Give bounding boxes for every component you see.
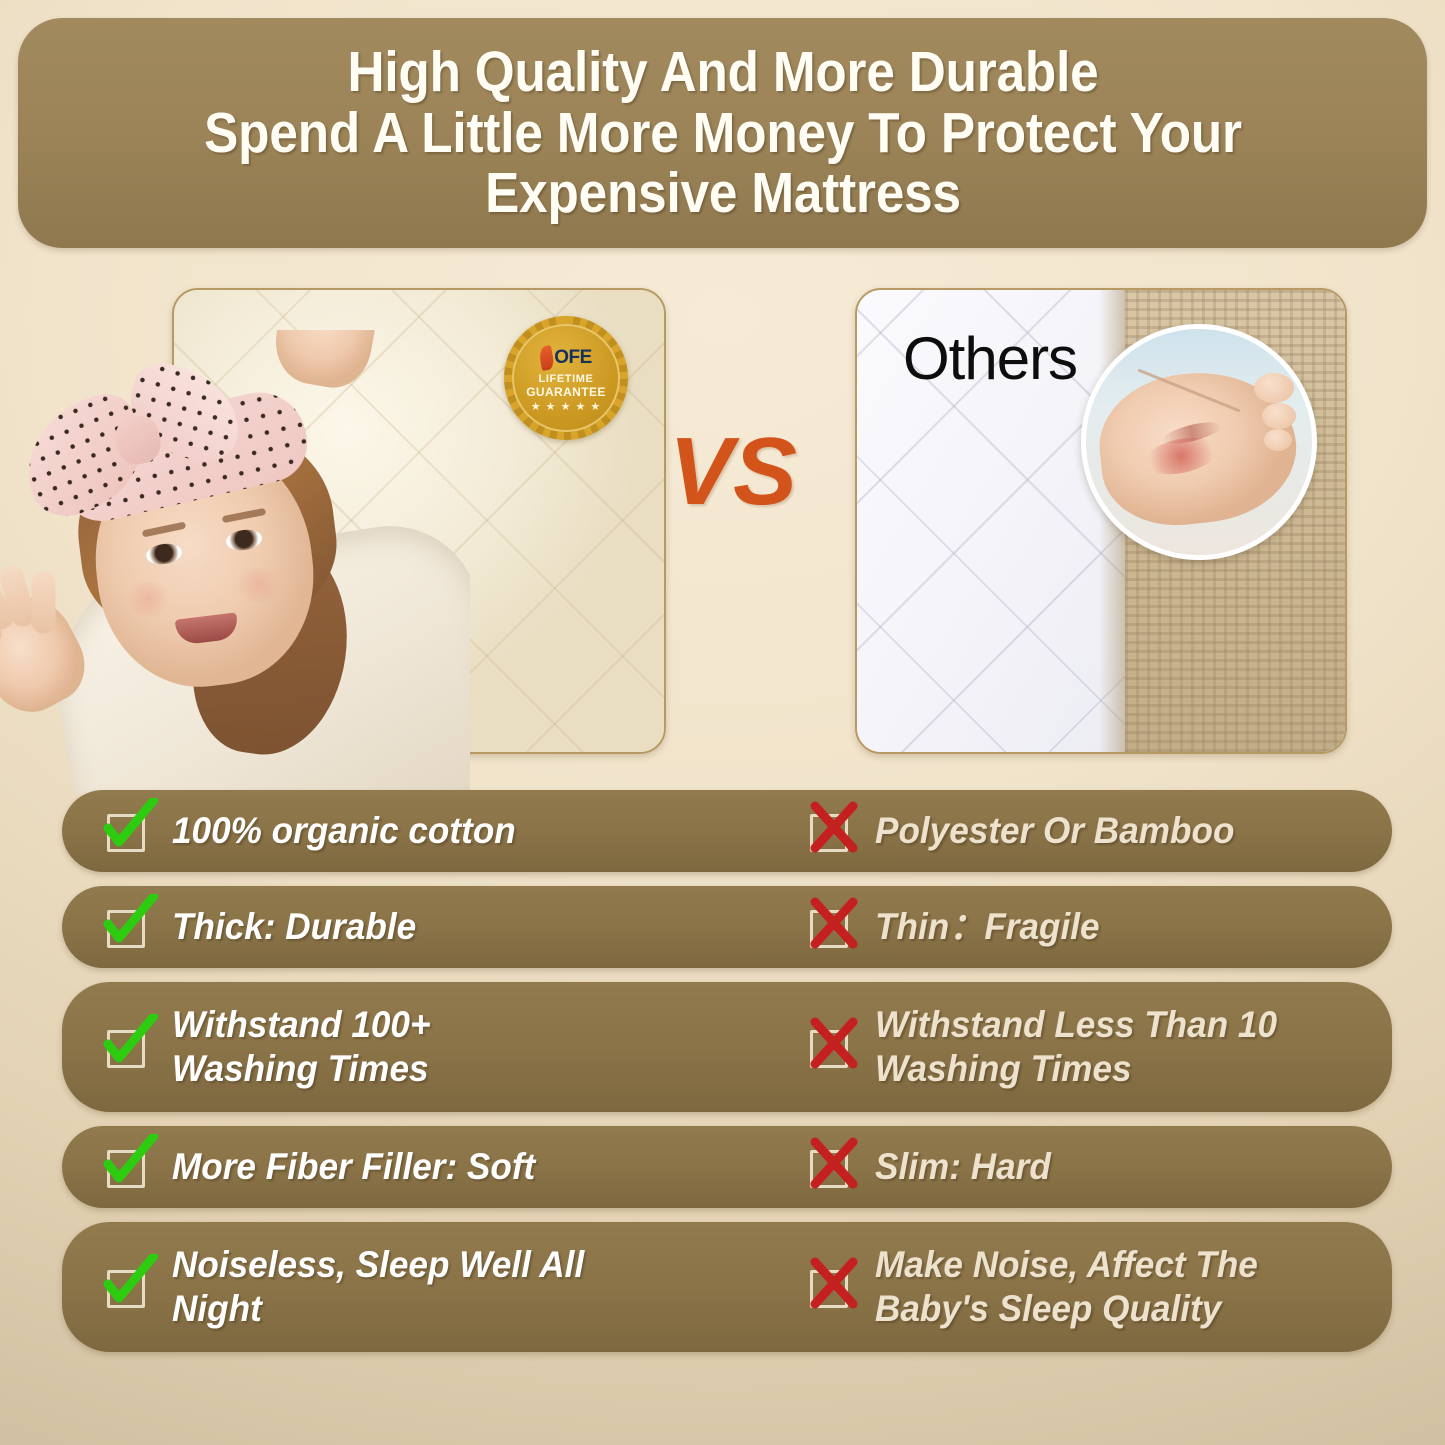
leaf-icon [538,345,555,371]
feature-label-others: Slim: Hard [875,1145,1051,1189]
feature-label-ours: 100% organic cotton [172,809,516,853]
headband-bow-left [7,385,161,528]
cross-icon [807,1144,853,1190]
header-line-2: Spend A Little More Money To Protect You… [124,103,1321,164]
header-banner: High Quality And More Durable Spend A Li… [18,18,1427,248]
header-title: High Quality And More Durable Spend A Li… [124,42,1321,225]
header-line-3: Expensive Mattress [124,163,1321,224]
feature-cell-others: Make Noise, Affect The Baby's Sleep Qual… [807,1243,1392,1330]
feature-cell-others: Slim: Hard [807,1144,1392,1190]
cross-icon [807,904,853,950]
check-icon [104,1024,150,1070]
lifetime-guarantee-badge: OFE LIFETIME GUARANTEE ★ ★ ★ ★ ★ [504,316,628,440]
comparison-rows: 100% organic cotton Polyester Or Bamboo … [62,790,1392,1366]
badge-stars: ★ ★ ★ ★ ★ [531,400,602,413]
feature-label-others: Polyester Or Bamboo [875,809,1234,853]
feature-cell-ours: More Fiber Filler: Soft [62,1144,807,1190]
baby-cheek-left [122,582,174,616]
cross-icon [807,808,853,854]
others-panel: Others [855,288,1347,754]
header-line-1: High Quality And More Durable [124,42,1321,103]
badge-line-1: LIFETIME [539,373,594,385]
vs-separator: VS [668,417,798,527]
feature-cell-ours: Withstand 100+ Washing Times [62,1003,807,1090]
feature-cell-ours: Noiseless, Sleep Well All Night [62,1243,807,1330]
feature-row: Noiseless, Sleep Well All Night Make Noi… [62,1222,1392,1352]
irritated-foot-inset [1081,324,1317,560]
badge-brand-text: OFE [554,347,592,369]
badge-face: OFE LIFETIME GUARANTEE ★ ★ ★ ★ ★ [512,324,620,432]
check-icon [104,1264,150,1310]
feature-row: Withstand 100+ Washing Times Withstand L… [62,982,1392,1112]
check-icon [104,808,150,854]
foot-toe-3 [1264,429,1292,451]
feature-label-ours: Withstand 100+ Washing Times [172,1003,431,1090]
baby-hand-lower [0,582,99,726]
foot-toe-1 [1254,373,1294,403]
feature-label-others: Withstand Less Than 10 Washing Times [875,1003,1277,1090]
feature-label-ours: More Fiber Filler: Soft [172,1145,535,1189]
feature-cell-ours: 100% organic cotton [62,808,807,854]
feature-label-others: Make Noise, Affect The Baby's Sleep Qual… [875,1243,1258,1330]
feature-label-others: Thin：Fragile [875,905,1100,949]
others-title: Others [903,324,1077,393]
feature-label-ours: Noiseless, Sleep Well All Night [172,1243,584,1330]
feature-label-ours: Thick: Durable [172,905,416,949]
feature-cell-others: Polyester Or Bamboo [807,808,1392,854]
check-icon [104,904,150,950]
badge-line-2: GUARANTEE [526,385,606,399]
feature-row: Thick: Durable Thin：Fragile [62,886,1392,968]
check-icon [104,1144,150,1190]
foot-toe-2 [1262,403,1296,429]
cross-icon [807,1024,853,1070]
infographic-root: High Quality And More Durable Spend A Li… [0,0,1445,1445]
feature-row: More Fiber Filler: Soft Slim: Hard [62,1126,1392,1208]
badge-brand: OFE [540,345,592,371]
feature-cell-ours: Thick: Durable [62,904,807,950]
feature-cell-others: Withstand Less Than 10 Washing Times [807,1003,1392,1090]
feature-row: 100% organic cotton Polyester Or Bamboo [62,790,1392,872]
cross-icon [807,1264,853,1310]
headband-bow-knot [111,412,164,468]
feature-cell-others: Thin：Fragile [807,904,1392,950]
